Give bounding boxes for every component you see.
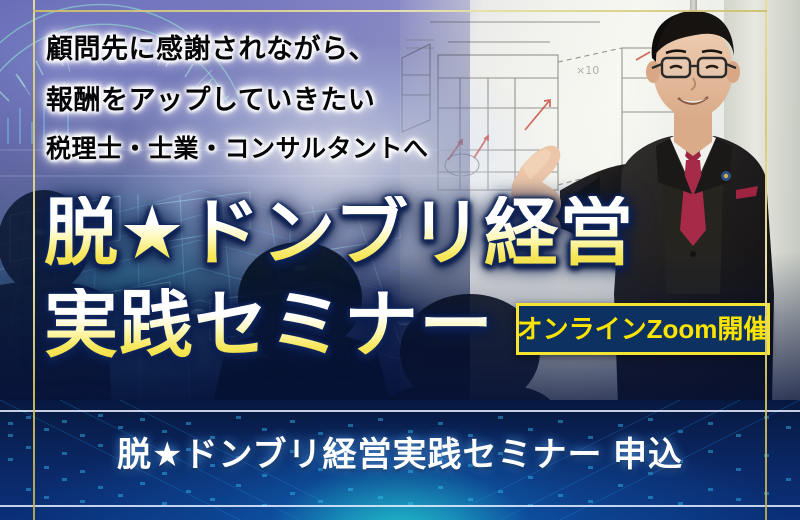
hero-section: ×10 — [0, 0, 800, 402]
online-zoom-badge-label: オンラインZoom開催 — [517, 316, 770, 342]
gold-frame-right — [765, 0, 767, 520]
headline-line-1: 脱★ドンブリ経営 — [44, 196, 634, 270]
headline-line-2: 実践セミナー — [44, 288, 494, 362]
subtitle-line-3: 税理士・士業・コンサルタントへ — [46, 137, 429, 162]
subtitle-line-2: 報酬をアップしていきたい — [46, 87, 375, 114]
cta-label[interactable]: 脱★ドンブリ経営実践セミナー 申込 — [0, 432, 800, 480]
online-zoom-badge: オンラインZoom開催 — [516, 303, 770, 355]
gold-frame-top — [33, 10, 767, 12]
subtitle-line-1: 顧問先に感謝されながら、 — [46, 36, 376, 63]
seminar-banner: ×10 — [0, 0, 800, 520]
cta-divider-bottom — [0, 505, 800, 507]
cta-divider-top — [0, 410, 800, 412]
gold-frame-left — [33, 0, 35, 520]
cta-bar[interactable]: 脱★ドンブリ経営実践セミナー 申込 — [0, 400, 800, 520]
